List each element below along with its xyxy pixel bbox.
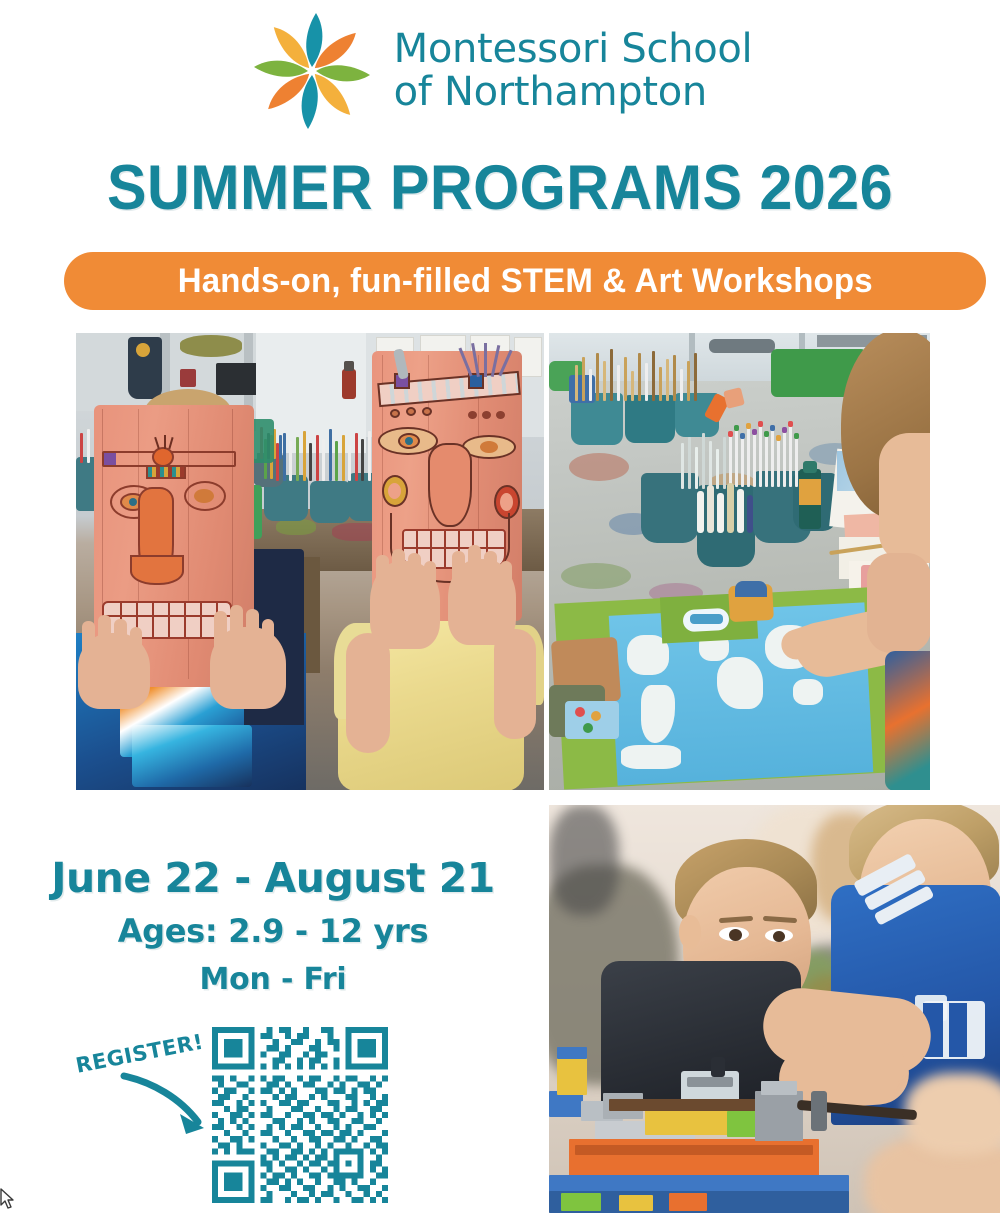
tagline-text: Hands-on, fun-filled STEM & Art Workshop… (177, 262, 872, 301)
mouse-pointer-icon (0, 1188, 16, 1212)
register-callout: REGISTER! (72, 1028, 222, 1138)
program-info: June 22 - August 21 Ages: 2.9 - 12 yrs M… (0, 856, 546, 997)
date-range: June 22 - August 21 (0, 856, 546, 902)
photo-map (549, 333, 930, 790)
school-wordmark: Montessori School of Northampton (394, 28, 753, 114)
school-name-line2: of Northampton (394, 71, 753, 114)
ages-range: Ages: 2.9 - 12 yrs (0, 912, 546, 950)
school-name-line1: Montessori School (394, 26, 753, 72)
register-label: REGISTER! (74, 1029, 206, 1077)
days-of-week: Mon - Fri (0, 962, 546, 997)
photo-lego (549, 805, 1000, 1213)
photo-masks (76, 333, 544, 790)
brand-logo-block: Montessori School of Northampton (0, 4, 1000, 138)
page-title: SUMMER PROGRAMS 2026 (30, 152, 970, 224)
montessori-flower-logo-icon (248, 7, 376, 135)
qr-code-icon[interactable] (212, 1027, 388, 1203)
curved-arrow-icon (118, 1072, 218, 1142)
tagline-banner: Hands-on, fun-filled STEM & Art Workshop… (64, 252, 986, 310)
